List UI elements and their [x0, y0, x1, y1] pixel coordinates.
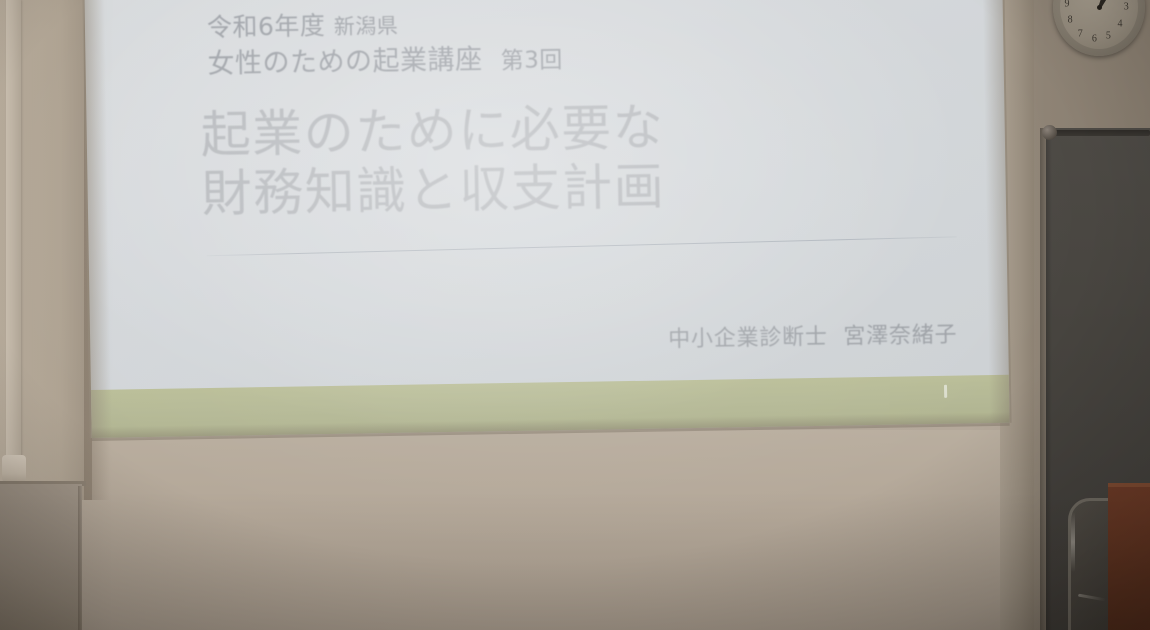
presenter-name: 宮澤奈緒子 [843, 323, 957, 350]
wall-clock: 3 4 5 6 7 8 9 [1053, 0, 1145, 56]
slide-subtitle-line-1: 令和6年度 新潟県 [207, 6, 563, 44]
clock-numeral-3: 3 [1124, 2, 1129, 13]
slide-title-line-1: 起業のために必要な [200, 98, 664, 165]
room-wall-lower [0, 430, 1150, 630]
cabinet [0, 484, 82, 630]
chair-highlight [1071, 512, 1075, 572]
title-divider-rule [207, 236, 957, 256]
desk-top-edge [1108, 483, 1150, 487]
clock-numeral-4: 4 [1118, 18, 1123, 29]
subtitle-prefecture: 新潟県 [334, 14, 399, 39]
slide-subtitle: 令和6年度 新潟県 女性のための起業講座 第3回 [207, 6, 563, 81]
pillar-trim-strip [6, 0, 21, 470]
slide-title-line-2: 財務知識と収支計画 [201, 157, 665, 224]
slide-title: 起業のために必要な 財務知識と収支計画 [200, 98, 665, 224]
wooden-desk [1108, 483, 1150, 630]
subtitle-course-name: 女性のための起業講座 [207, 44, 482, 80]
cabinet-edge [78, 486, 82, 630]
subtitle-session-number: 第3回 [501, 47, 564, 74]
curtain-rail-finial-icon [1042, 125, 1057, 140]
projected-slide-photo: 3 4 5 6 7 8 9 令和6年度 新潟県 女性のための起業講座 第3回 起… [0, 0, 1150, 630]
clock-numeral-6: 6 [1092, 33, 1097, 44]
slide-presenter: 中小企業診断士 宮澤奈緒子 [668, 317, 958, 354]
door-shadow [1040, 128, 1052, 630]
clock-numeral-8: 8 [1068, 15, 1073, 26]
clock-numeral-5: 5 [1106, 30, 1111, 41]
clock-center-pin [1097, 5, 1102, 10]
clock-numeral-9: 9 [1065, 0, 1070, 9]
curtain-rail [1044, 130, 1150, 136]
slide-subtitle-line-2: 女性のための起業講座 第3回 [207, 41, 563, 82]
presenter-credential: 中小企業診断士 [668, 325, 828, 353]
slide-content: 令和6年度 新潟県 女性のための起業講座 第3回 起業のために必要な 財務知識と… [84, 0, 1009, 438]
projection-screen: 令和6年度 新潟県 女性のための起業講座 第3回 起業のために必要な 財務知識と… [84, 0, 1009, 438]
subtitle-fiscal-year: 令和6年度 [207, 11, 326, 42]
slide-number-mark [944, 385, 947, 398]
clock-numeral-7: 7 [1078, 28, 1083, 39]
